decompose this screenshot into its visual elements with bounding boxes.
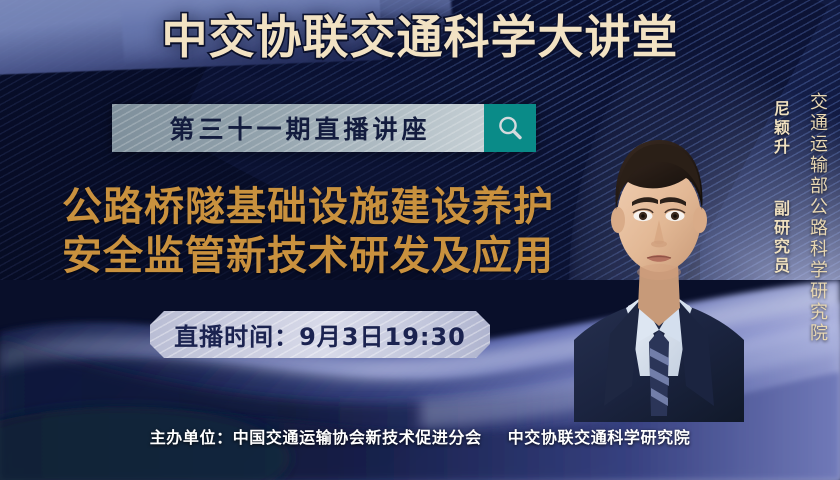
speaker-role: 副研究员 [768,200,792,276]
webinar-poster: 中交协联交通科学大讲堂 第三十一期直播讲座 公路桥隧基础设施建设养护 安全监管新… [0,0,840,480]
broadcast-time-badge: 直播时间：9月3日19:30 [150,311,490,358]
topic-line-2: 安全监管新技术研发及应用 [28,232,588,281]
speaker-portrait [574,86,744,422]
episode-banner: 第三十一期直播讲座 [112,104,536,152]
speaker-organization: 交通运输部公路科学研究院 [804,92,830,344]
lecture-topic: 公路桥隧基础设施建设养护 安全监管新技术研发及应用 [28,183,588,281]
topic-line-1: 公路桥隧基础设施建设养护 [28,183,588,232]
episode-label: 第三十一期直播讲座 [165,110,430,146]
page-title: 中交协联交通科学大讲堂 [0,14,840,60]
footer-organizer: 主办单位：中国交通运输协会新技术促进分会 [150,428,482,447]
speaker-name: 尼颖升 [768,100,792,157]
episode-banner-text: 第三十一期直播讲座 [112,104,484,152]
broadcast-time-label: 直播时间：9月3日19:30 [174,317,466,352]
footer-co-organizer: 中交协联交通科学研究院 [508,428,691,447]
search-icon[interactable] [484,104,536,152]
footer-organizers: 主办单位：中国交通运输协会新技术促进分会中交协联交通科学研究院 [0,424,840,448]
